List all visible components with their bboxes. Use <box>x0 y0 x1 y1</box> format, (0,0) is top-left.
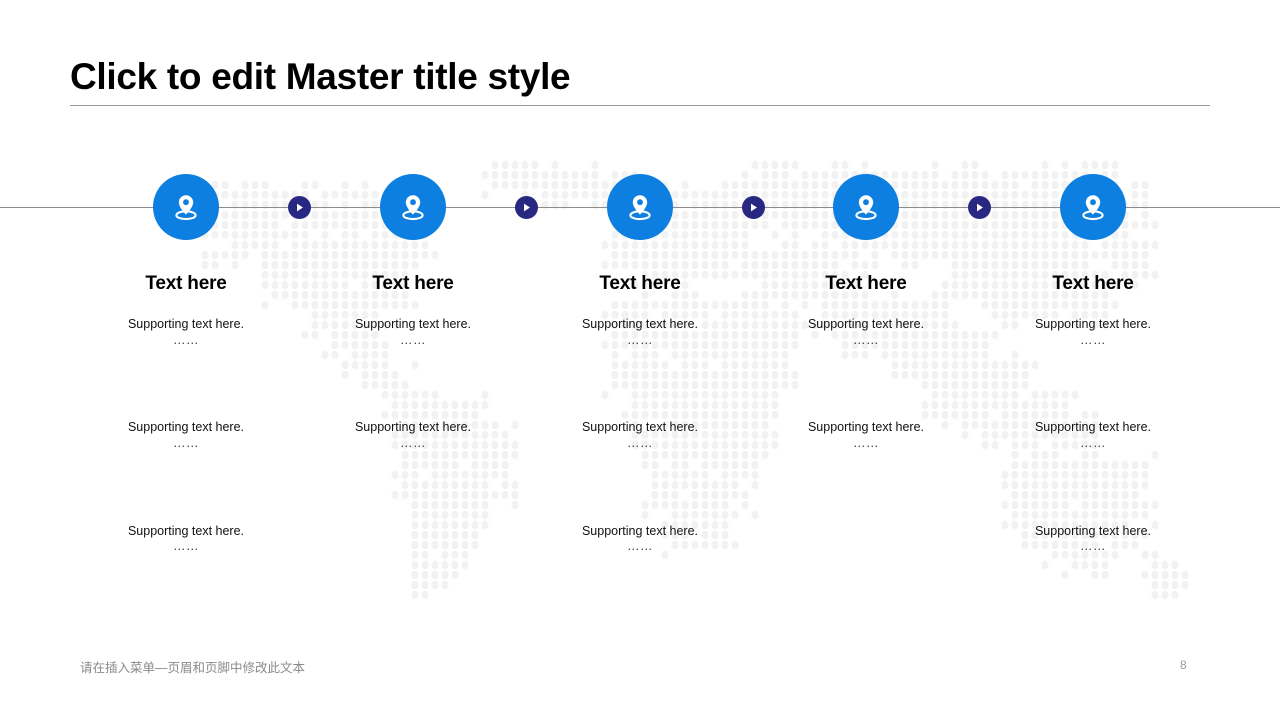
supporting-text: Supporting text here. <box>313 420 513 436</box>
connector-arrow-1[interactable] <box>288 196 311 219</box>
supporting-ellipsis: …… <box>993 436 1193 452</box>
map-pin-icon <box>623 190 657 224</box>
page-title[interactable]: Click to edit Master title style <box>70 56 1210 99</box>
supporting-item: Supporting text here. …… <box>993 420 1193 451</box>
title-divider <box>70 105 1210 106</box>
supporting-ellipsis: …… <box>313 333 513 349</box>
supporting-text: Supporting text here. <box>86 317 286 333</box>
supporting-item: Supporting text here. …… <box>313 317 513 348</box>
timeline-node-1[interactable] <box>153 174 219 240</box>
map-pin-icon <box>169 190 203 224</box>
supporting-text: Supporting text here. <box>993 317 1193 333</box>
timeline-node-4[interactable] <box>833 174 899 240</box>
supporting-text: Supporting text here. <box>86 524 286 540</box>
supporting-item: Supporting text here. …… <box>86 317 286 348</box>
play-arrow-icon <box>294 202 305 213</box>
timeline-node-5[interactable] <box>1060 174 1126 240</box>
timeline-column-5: Text here Supporting text here. …… Suppo… <box>993 273 1193 555</box>
play-arrow-icon <box>974 202 985 213</box>
supporting-ellipsis: …… <box>86 436 286 452</box>
footer-note[interactable]: 请在插入菜单—页眉和页脚中修改此文本 <box>80 657 305 676</box>
supporting-text: Supporting text here. <box>993 420 1193 436</box>
supporting-ellipsis: …… <box>766 436 966 452</box>
supporting-item: Supporting text here. …… <box>540 524 740 555</box>
connector-arrow-3[interactable] <box>742 196 765 219</box>
column-heading: Text here <box>313 273 513 295</box>
slide-canvas: Click to edit Master title style <box>0 0 1280 720</box>
supporting-ellipsis: …… <box>86 539 286 555</box>
supporting-text: Supporting text here. <box>766 317 966 333</box>
supporting-ellipsis: …… <box>766 333 966 349</box>
timeline-column-4: Text here Supporting text here. …… Suppo… <box>766 273 966 452</box>
column-heading: Text here <box>86 273 286 295</box>
supporting-ellipsis: …… <box>993 333 1193 349</box>
supporting-item: Supporting text here. …… <box>86 524 286 555</box>
timeline-column-1: Text here Supporting text here. …… Suppo… <box>86 273 286 555</box>
supporting-ellipsis: …… <box>540 436 740 452</box>
supporting-item: Supporting text here. …… <box>313 420 513 451</box>
supporting-ellipsis: …… <box>993 539 1193 555</box>
column-heading: Text here <box>766 273 966 295</box>
supporting-item: Supporting text here. …… <box>993 524 1193 555</box>
timeline-column-3: Text here Supporting text here. …… Suppo… <box>540 273 740 555</box>
timeline-column-2: Text here Supporting text here. …… Suppo… <box>313 273 513 452</box>
supporting-ellipsis: …… <box>540 539 740 555</box>
page-number: 8 <box>1180 658 1210 672</box>
map-pin-icon <box>849 190 883 224</box>
supporting-text: Supporting text here. <box>313 317 513 333</box>
supporting-text: Supporting text here. <box>993 524 1193 540</box>
play-arrow-icon <box>748 202 759 213</box>
page-title-text: Click to edit Master title style <box>70 56 1210 99</box>
connector-arrow-2[interactable] <box>515 196 538 219</box>
supporting-ellipsis: …… <box>313 436 513 452</box>
supporting-item: Supporting text here. …… <box>86 420 286 451</box>
supporting-item: Supporting text here. …… <box>540 317 740 348</box>
timeline-node-3[interactable] <box>607 174 673 240</box>
supporting-text: Supporting text here. <box>766 420 966 436</box>
supporting-item: Supporting text here. …… <box>766 317 966 348</box>
supporting-ellipsis: …… <box>86 333 286 349</box>
supporting-item: Supporting text here. …… <box>766 420 966 451</box>
connector-arrow-4[interactable] <box>968 196 991 219</box>
supporting-text: Supporting text here. <box>540 420 740 436</box>
supporting-text: Supporting text here. <box>540 317 740 333</box>
map-pin-icon <box>396 190 430 224</box>
supporting-text: Supporting text here. <box>540 524 740 540</box>
timeline-node-2[interactable] <box>380 174 446 240</box>
supporting-ellipsis: …… <box>540 333 740 349</box>
supporting-item: Supporting text here. …… <box>540 420 740 451</box>
play-arrow-icon <box>521 202 532 213</box>
supporting-text: Supporting text here. <box>86 420 286 436</box>
map-pin-icon <box>1076 190 1110 224</box>
column-heading: Text here <box>540 273 740 295</box>
column-heading: Text here <box>993 273 1193 295</box>
supporting-item: Supporting text here. …… <box>993 317 1193 348</box>
